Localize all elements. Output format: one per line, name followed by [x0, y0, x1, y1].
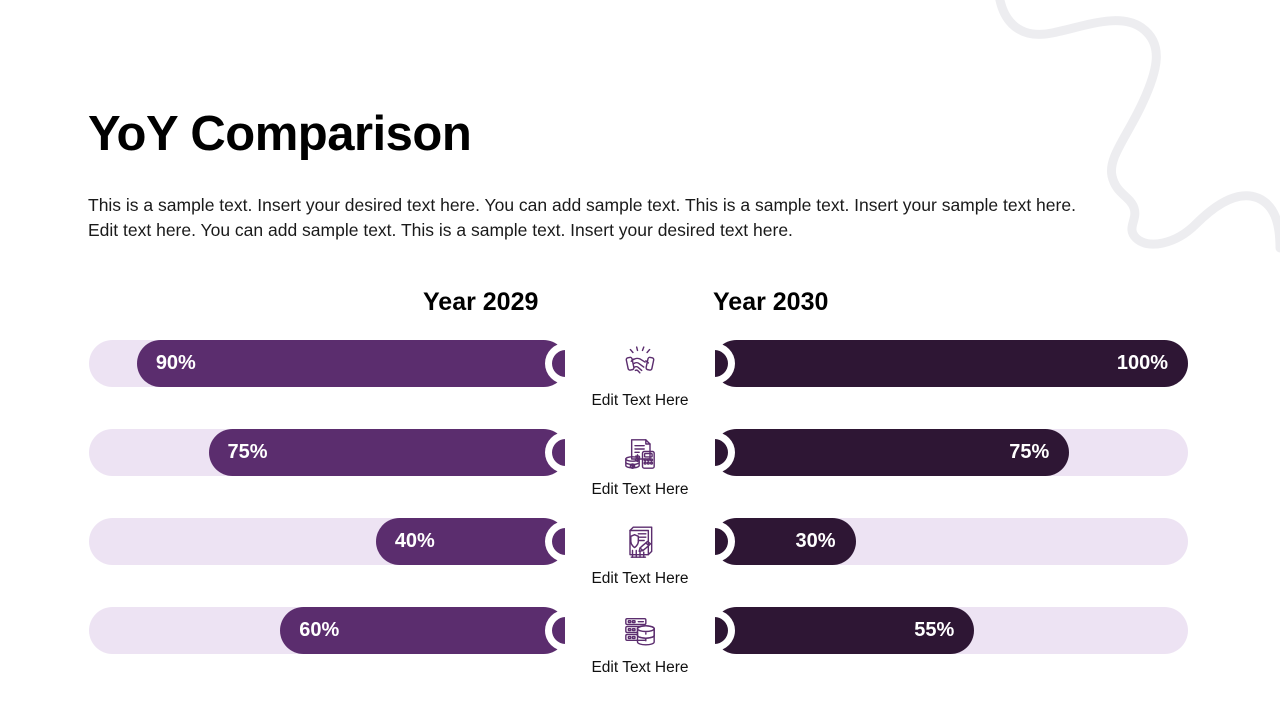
bar-fill-right[interactable]: 100%	[713, 340, 1188, 387]
invoice-calculator-icon	[620, 429, 660, 479]
bar-fill-right[interactable]: 55%	[713, 607, 974, 654]
handshake-icon	[620, 340, 660, 390]
bar-value-left: 90%	[156, 352, 196, 375]
bar-fill-left[interactable]: 40%	[376, 518, 567, 565]
bar-value-left: 60%	[299, 619, 339, 642]
center-category-column: Edit Text Here	[565, 340, 715, 652]
bar-track-right: 75%	[713, 429, 1188, 476]
bar-track-left: 60%	[89, 607, 567, 654]
bar-track-right: 30%	[713, 518, 1188, 565]
contract-signing-icon	[620, 518, 660, 568]
slide-canvas: YoY Comparison This is a sample text. In…	[0, 0, 1280, 720]
page-title: YoY Comparison	[88, 108, 471, 162]
bar-fill-left[interactable]: 90%	[137, 340, 567, 387]
category-label: Edit Text Here	[591, 570, 688, 588]
bar-track-right: 55%	[713, 607, 1188, 654]
bar-track-right: 100%	[713, 340, 1188, 387]
category-label: Edit Text Here	[591, 481, 688, 499]
category-item[interactable]: Edit Text Here	[565, 518, 715, 607]
category-label: Edit Text Here	[591, 392, 688, 410]
bar-value-right: 55%	[914, 619, 954, 642]
category-item[interactable]: Edit Text Here	[565, 607, 715, 696]
column-header-right: Year 2030	[713, 288, 828, 317]
bar-track-left: 75%	[89, 429, 567, 476]
column-header-left: Year 2029	[423, 288, 538, 317]
bar-value-right: 75%	[1009, 441, 1049, 464]
bar-value-right: 100%	[1117, 352, 1168, 375]
bar-track-left: 40%	[89, 518, 567, 565]
bar-fill-right[interactable]: 75%	[713, 429, 1069, 476]
category-label: Edit Text Here	[591, 659, 688, 677]
bar-fill-left[interactable]: 75%	[209, 429, 568, 476]
bar-value-left: 40%	[395, 530, 435, 553]
page-subtitle: This is a sample text. Insert your desir…	[88, 193, 1103, 244]
bar-value-right: 30%	[795, 530, 835, 553]
category-item[interactable]: Edit Text Here	[565, 340, 715, 429]
category-item[interactable]: Edit Text Here	[565, 429, 715, 518]
bar-value-left: 75%	[228, 441, 268, 464]
bar-track-left: 90%	[89, 340, 567, 387]
bar-fill-left[interactable]: 60%	[280, 607, 567, 654]
database-server-icon	[620, 607, 660, 657]
